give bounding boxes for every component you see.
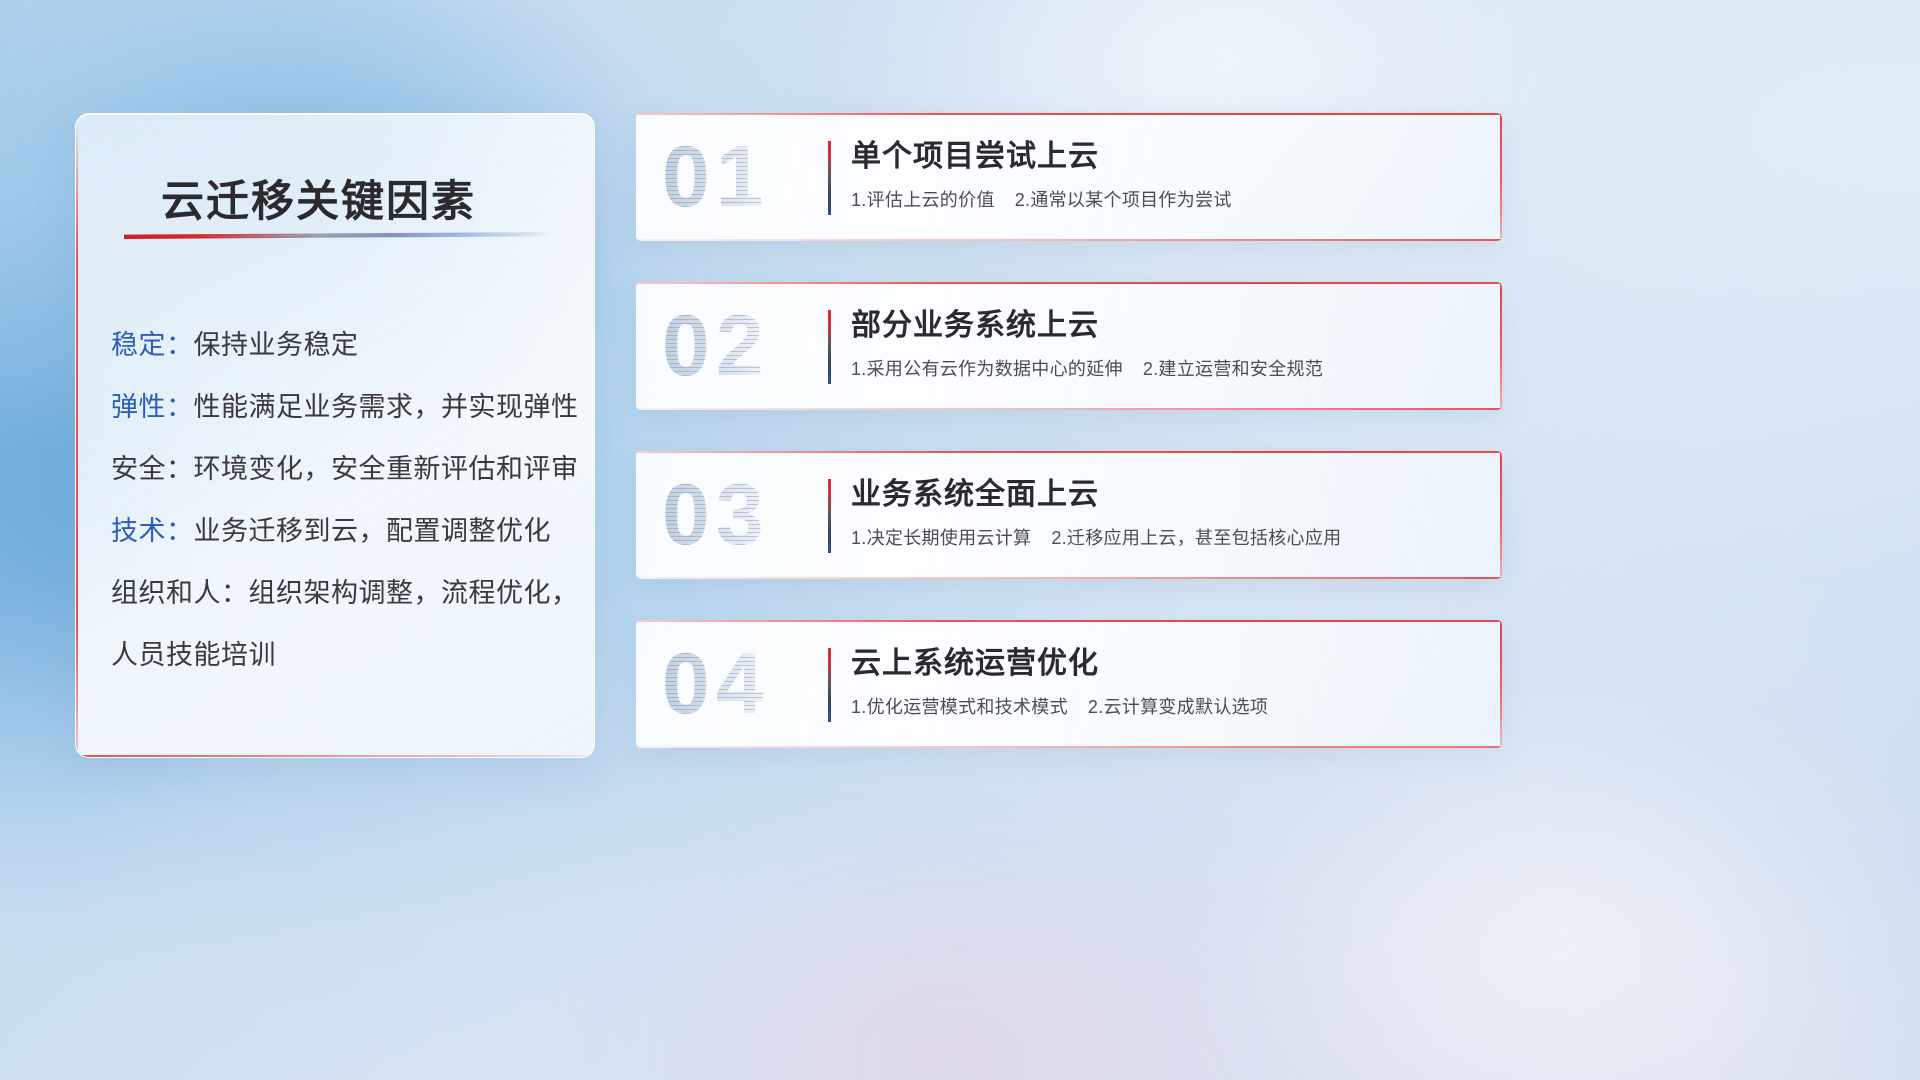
slide-canvas: 云迁移关键因素 稳定：保持业务稳定 弹性：性能满足业务需求，并实现弹性 安全：环… <box>0 0 1920 1080</box>
card-title: 单个项目尝试上云 <box>851 139 1482 176</box>
card-bottom-accent <box>636 239 1502 241</box>
list-item-value: 环境变化，安全重新评估和评审 <box>194 454 579 484</box>
card-right-accent <box>1500 113 1502 241</box>
card-step-number: 01 <box>662 134 770 220</box>
card-description-part-2: 2.建立运营和安全规范 <box>1143 359 1323 379</box>
list-item-key: 技术： <box>111 516 194 546</box>
card-description: 1.评估上云的价值2.通常以某个项目作为尝试 <box>851 186 1482 212</box>
panel-title: 云迁移关键因素 <box>161 167 476 229</box>
list-item: 弹性：性能满足业务需求，并实现弹性 <box>111 376 570 438</box>
list-item-value: 性能满足业务需求，并实现弹性 <box>194 392 579 422</box>
card-description-part-2: 2.云计算变成默认选项 <box>1088 697 1268 717</box>
list-item-value: 保持业务稳定 <box>194 330 359 360</box>
card-step-number: 04 <box>662 641 770 727</box>
card-divider-bar <box>828 141 831 215</box>
card-body: 单个项目尝试上云 1.评估上云的价值2.通常以某个项目作为尝试 <box>851 139 1482 212</box>
list-item-continuation: 人员技能培训 <box>111 624 570 686</box>
card-top-accent <box>636 113 1502 115</box>
card-description-part-1: 1.决定长期使用云计算 <box>851 528 1031 548</box>
list-item-key: 弹性： <box>111 392 194 422</box>
card-right-accent <box>1500 620 1502 748</box>
list-item-value: 人员技能培训 <box>111 640 276 670</box>
list-item-key: 稳定： <box>111 330 194 360</box>
card-description: 1.采用公有云作为数据中心的延伸2.建立运营和安全规范 <box>851 355 1482 381</box>
card-bottom-accent <box>636 577 1502 579</box>
card-body: 业务系统全面上云 1.决定长期使用云计算2.迁移应用上云，甚至包括核心应用 <box>851 477 1482 550</box>
title-underline-gradient <box>124 232 554 239</box>
panel-left-accent <box>76 114 78 757</box>
background-glow-bottom <box>520 780 1380 1080</box>
list-item: 技术：业务迁移到云，配置调整优化 <box>111 500 570 562</box>
card-body: 部分业务系统上云 1.采用公有云作为数据中心的延伸2.建立运营和安全规范 <box>851 308 1482 381</box>
card-right-accent <box>1500 282 1502 410</box>
card-title: 云上系统运营优化 <box>851 646 1482 683</box>
panel-bottom-accent <box>76 755 594 757</box>
card-description-part-2: 2.通常以某个项目作为尝试 <box>1015 190 1232 210</box>
list-item-value: 组织架构调整，流程优化， <box>249 578 579 608</box>
card-title: 部分业务系统上云 <box>851 308 1482 345</box>
card-description-part-1: 1.评估上云的价值 <box>851 190 995 210</box>
list-item: 组织和人：组织架构调整，流程优化， <box>111 562 570 624</box>
card-step-number: 02 <box>662 303 770 389</box>
card-body: 云上系统运营优化 1.优化运营模式和技术模式2.云计算变成默认选项 <box>851 646 1482 719</box>
stage-card[interactable]: 03 业务系统全面上云 1.决定长期使用云计算2.迁移应用上云，甚至包括核心应用 <box>636 451 1502 579</box>
list-item-value: 业务迁移到云，配置调整优化 <box>194 516 552 546</box>
list-item: 稳定：保持业务稳定 <box>111 314 570 376</box>
card-description: 1.决定长期使用云计算2.迁移应用上云，甚至包括核心应用 <box>851 524 1482 550</box>
list-item-key: 安全： <box>111 454 194 484</box>
key-factors-list: 稳定：保持业务稳定 弹性：性能满足业务需求，并实现弹性 安全：环境变化，安全重新… <box>111 314 570 686</box>
card-top-accent <box>636 620 1502 622</box>
stage-card[interactable]: 01 单个项目尝试上云 1.评估上云的价值2.通常以某个项目作为尝试 <box>636 113 1502 241</box>
card-top-accent <box>636 451 1502 453</box>
stage-card-list: 01 单个项目尝试上云 1.评估上云的价值2.通常以某个项目作为尝试 02 部分… <box>636 113 1502 789</box>
card-right-accent <box>1500 451 1502 579</box>
card-title: 业务系统全面上云 <box>851 477 1482 514</box>
card-divider-bar <box>828 310 831 384</box>
card-description-part-1: 1.采用公有云作为数据中心的延伸 <box>851 359 1123 379</box>
card-divider-bar <box>828 479 831 553</box>
card-divider-bar <box>828 648 831 722</box>
stage-card[interactable]: 02 部分业务系统上云 1.采用公有云作为数据中心的延伸2.建立运营和安全规范 <box>636 282 1502 410</box>
card-description-part-2: 2.迁移应用上云，甚至包括核心应用 <box>1051 528 1341 548</box>
list-item-key: 组织和人： <box>111 578 249 608</box>
card-top-accent <box>636 282 1502 284</box>
list-item: 安全：环境变化，安全重新评估和评审 <box>111 438 570 500</box>
card-bottom-accent <box>636 746 1502 748</box>
stage-card[interactable]: 04 云上系统运营优化 1.优化运营模式和技术模式2.云计算变成默认选项 <box>636 620 1502 748</box>
card-step-number: 03 <box>662 472 770 558</box>
card-description-part-1: 1.优化运营模式和技术模式 <box>851 697 1068 717</box>
key-factors-panel: 云迁移关键因素 稳定：保持业务稳定 弹性：性能满足业务需求，并实现弹性 安全：环… <box>75 113 595 758</box>
card-description: 1.优化运营模式和技术模式2.云计算变成默认选项 <box>851 693 1482 719</box>
card-bottom-accent <box>636 408 1502 410</box>
